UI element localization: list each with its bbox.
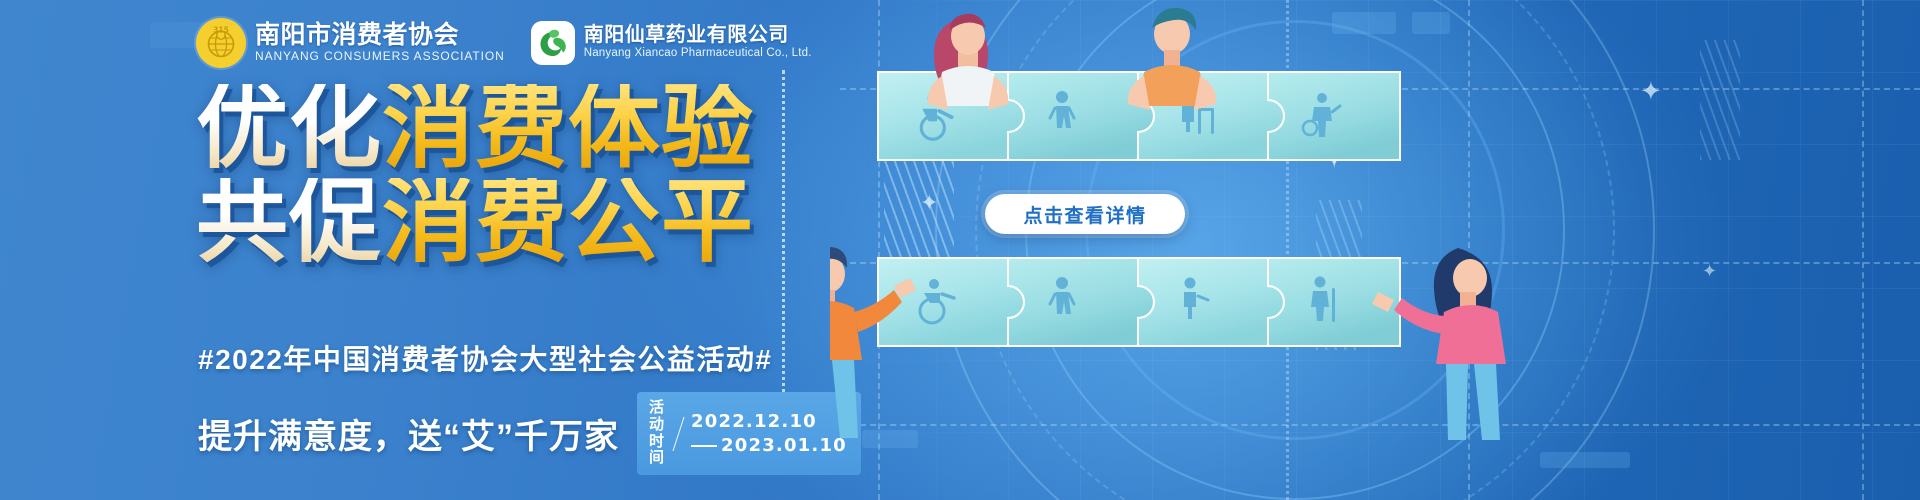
left-content: 315 南阳市消费者协会 NANYANG CONSUMERS ASSOCIATI…: [0, 0, 830, 500]
campaign-subtitle: #2022年中国消费者协会大型社会公益活动#: [198, 338, 772, 378]
logo-1-name-en: NANYANG CONSUMERS ASSOCIATION: [255, 49, 505, 65]
tagline-row: 提升满意度，送“艾”千万家 活动 时间 2022.12.10 2023.01.1…: [198, 392, 861, 475]
svg-text:315: 315: [213, 26, 229, 35]
headline-line-1-part-2: 消费体验: [382, 84, 754, 172]
event-end-date-row: 2023.01.10: [691, 435, 847, 456]
promo-banner: ✦ ✦ ✦ ✦ 315: [0, 0, 1920, 500]
logo-nanyang-consumers-association: 315 南阳市消费者协会 NANYANG CONSUMERS ASSOCIATI…: [196, 18, 505, 68]
event-dates: 2022.12.10 2023.01.10: [691, 411, 847, 456]
event-period-label-line2: 时间: [649, 434, 666, 468]
logo-2-name-cn: 南阳仙草药业有限公司: [584, 25, 812, 47]
campaign-tagline: 提升满意度，送“艾”千万家: [198, 409, 619, 458]
date-range-dash-icon: [691, 445, 717, 447]
headline-line-1-part-1: 优化: [196, 84, 382, 172]
event-start-date: 2022.12.10: [691, 411, 847, 432]
logo-2-name-en: Nanyang Xiancao Pharmaceutical Co., Ltd.: [584, 46, 812, 61]
green-leaf-icon: [531, 21, 575, 65]
event-period-label: 活动 时间: [649, 400, 666, 467]
logo-1-text: 南阳市消费者协会 NANYANG CONSUMERS ASSOCIATION: [255, 22, 505, 65]
logo-row: 315 南阳市消费者协会 NANYANG CONSUMERS ASSOCIATI…: [196, 18, 812, 68]
slash-divider-icon: [672, 417, 684, 451]
illustration-scene: 点击查看详情: [830, 0, 1920, 500]
headline-line-2-part-2: 消费公平: [382, 178, 754, 266]
event-period-label-line1: 活动: [649, 400, 666, 434]
view-details-button[interactable]: 点击查看详情: [985, 194, 1185, 234]
headline-line-1: 优化 消费体验: [196, 84, 754, 172]
315-globe-icon: 315: [196, 18, 246, 68]
puzzle-row-bottom: [878, 258, 1400, 346]
logo-1-name-cn: 南阳市消费者协会: [255, 22, 505, 49]
headline: 优化 消费体验 共促 消费公平: [196, 84, 754, 267]
view-details-button-label: 点击查看详情: [1023, 201, 1146, 228]
event-period-box: 活动 时间 2022.12.10 2023.01.10: [637, 392, 861, 475]
figure-woman-red-hair-top-left: [928, 14, 1008, 110]
headline-line-2-part-1: 共促: [196, 178, 382, 266]
logo-2-text: 南阳仙草药业有限公司 Nanyang Xiancao Pharmaceutica…: [584, 25, 812, 62]
event-end-date: 2023.01.10: [721, 435, 847, 456]
figure-man-teal-hair-top-right: [1128, 8, 1216, 110]
logo-nanyang-xiancao-pharmaceutical: 南阳仙草药业有限公司 Nanyang Xiancao Pharmaceutica…: [531, 21, 812, 65]
headline-line-2: 共促 消费公平: [196, 178, 754, 266]
